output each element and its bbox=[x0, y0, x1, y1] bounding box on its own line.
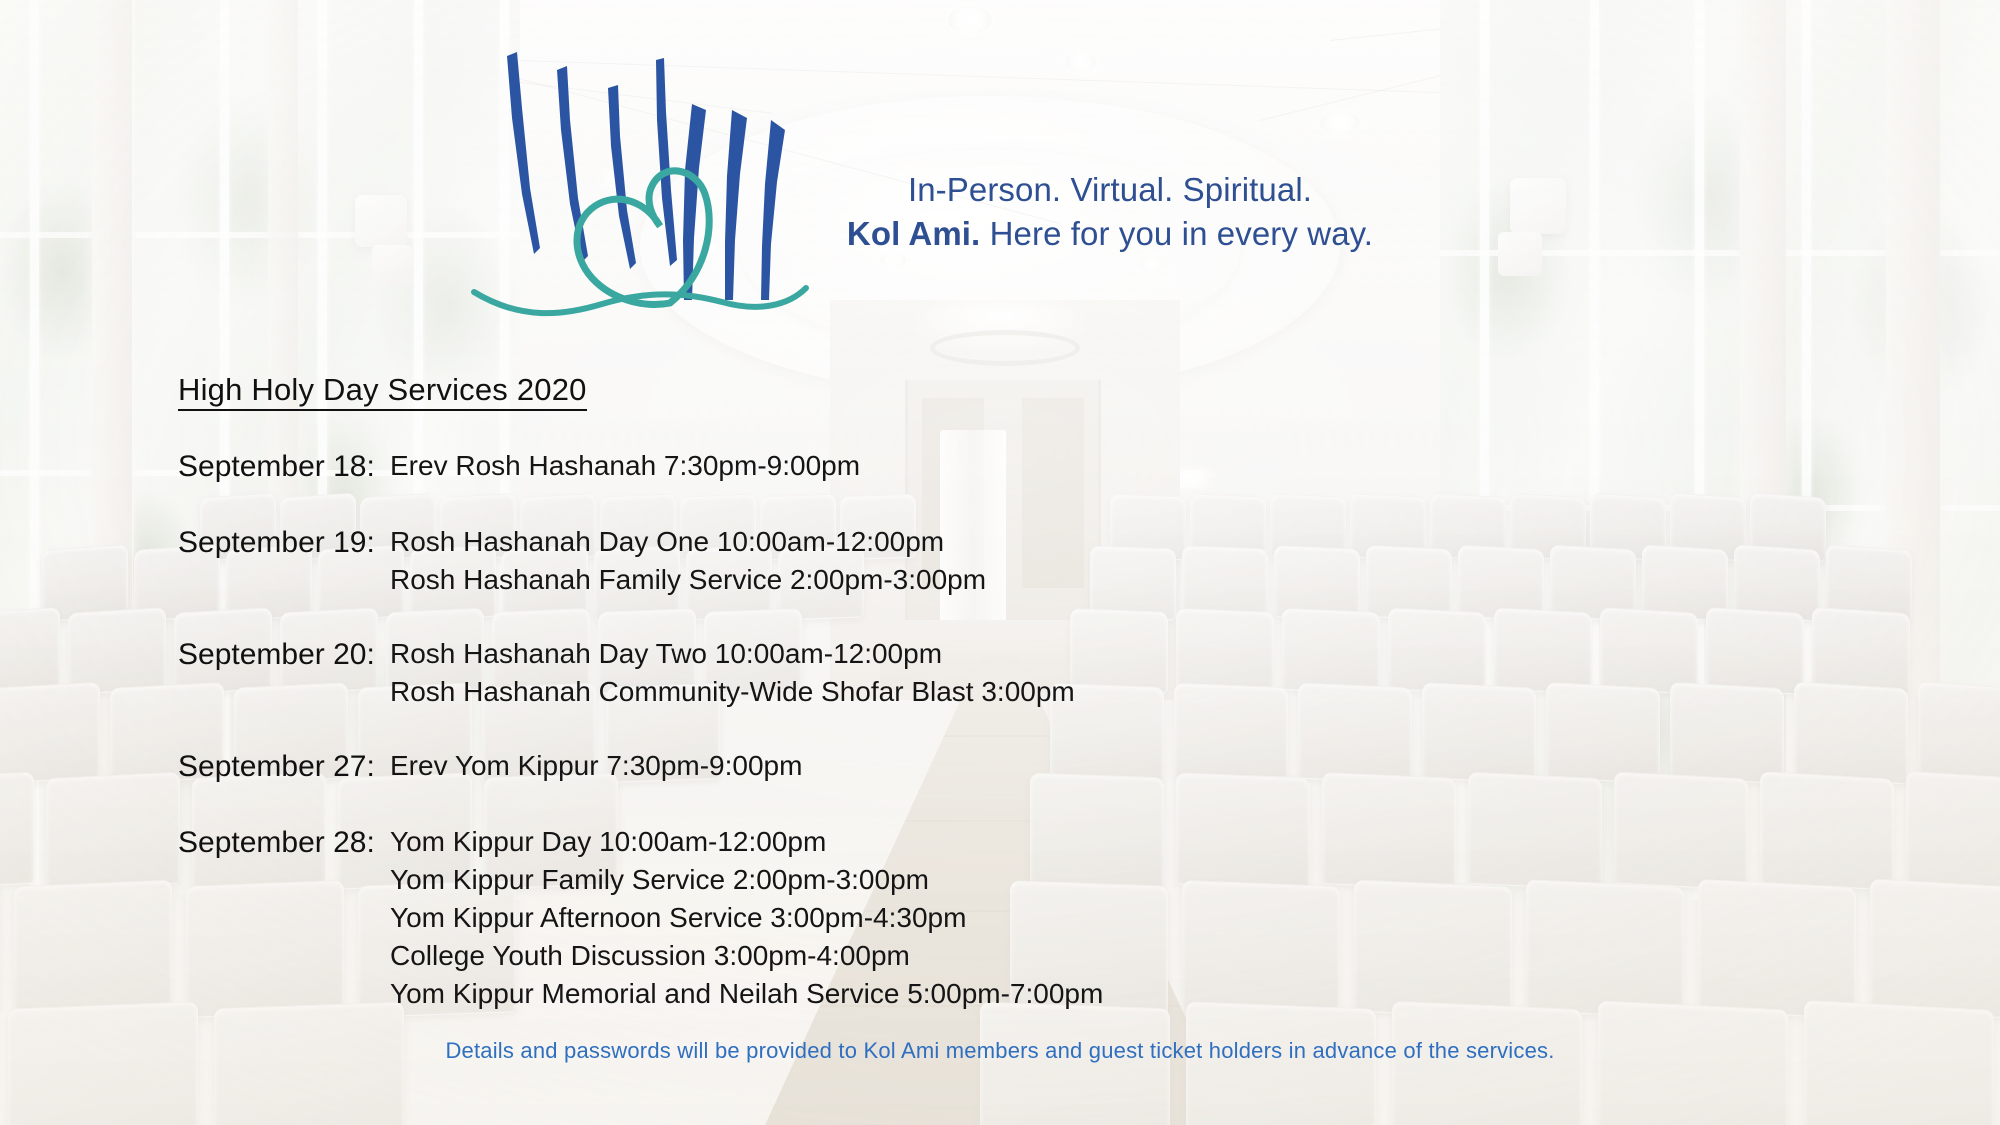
schedule-day-date: September 20: bbox=[178, 635, 390, 675]
schedule-day-date: September 27: bbox=[178, 747, 390, 787]
schedule-day-date: September 19: bbox=[178, 523, 390, 563]
schedule-day-date: September 18: bbox=[178, 447, 390, 487]
kol-ami-logo bbox=[470, 48, 810, 328]
schedule-event: Rosh Hashanah Day One 10:00am-12:00pm bbox=[390, 523, 986, 561]
menorah-hand-blades-icon bbox=[507, 52, 785, 300]
schedule-event: Yom Kippur Memorial and Neilah Service 5… bbox=[390, 975, 1103, 1013]
schedule-day-events: Erev Yom Kippur 7:30pm-9:00pm bbox=[390, 747, 802, 785]
schedule-day: September 19:Rosh Hashanah Day One 10:00… bbox=[178, 523, 1103, 599]
tagline-line-1: In-Person. Virtual. Spiritual. bbox=[800, 168, 1420, 212]
schedule-block: High Holy Day Services 2020 September 18… bbox=[178, 372, 1103, 1013]
schedule-day: September 18:Erev Rosh Hashanah 7:30pm-9… bbox=[178, 447, 1103, 487]
schedule-event: Yom Kippur Day 10:00am-12:00pm bbox=[390, 823, 1103, 861]
flyer-canvas: In-Person. Virtual. Spiritual. Kol Ami. … bbox=[0, 0, 2000, 1125]
flyer-content: In-Person. Virtual. Spiritual. Kol Ami. … bbox=[0, 0, 2000, 1125]
schedule-day-events: Rosh Hashanah Day Two 10:00am-12:00pmRos… bbox=[390, 635, 1075, 711]
schedule-event: Rosh Hashanah Family Service 2:00pm-3:00… bbox=[390, 561, 986, 599]
schedule-event: Yom Kippur Afternoon Service 3:00pm-4:30… bbox=[390, 899, 1103, 937]
tagline-line-2: Kol Ami. Here for you in every way. bbox=[800, 212, 1420, 256]
schedule-days: September 18:Erev Rosh Hashanah 7:30pm-9… bbox=[178, 447, 1103, 1013]
tagline-brand: Kol Ami. bbox=[847, 215, 980, 252]
schedule-event: Rosh Hashanah Community-Wide Shofar Blas… bbox=[390, 673, 1075, 711]
schedule-event: Erev Rosh Hashanah 7:30pm-9:00pm bbox=[390, 447, 860, 485]
schedule-day: September 27:Erev Yom Kippur 7:30pm-9:00… bbox=[178, 747, 1103, 787]
schedule-day: September 28:Yom Kippur Day 10:00am-12:0… bbox=[178, 823, 1103, 1013]
schedule-day-events: Erev Rosh Hashanah 7:30pm-9:00pm bbox=[390, 447, 860, 485]
schedule-event: Rosh Hashanah Day Two 10:00am-12:00pm bbox=[390, 635, 1075, 673]
tagline: In-Person. Virtual. Spiritual. Kol Ami. … bbox=[800, 168, 1420, 256]
schedule-day-date: September 28: bbox=[178, 823, 390, 863]
schedule-day-events: Rosh Hashanah Day One 10:00am-12:00pmRos… bbox=[390, 523, 986, 599]
tagline-line-2-rest: Here for you in every way. bbox=[980, 215, 1373, 252]
schedule-event: Yom Kippur Family Service 2:00pm-3:00pm bbox=[390, 861, 1103, 899]
schedule-day: September 20:Rosh Hashanah Day Two 10:00… bbox=[178, 635, 1103, 711]
schedule-event: Erev Yom Kippur 7:30pm-9:00pm bbox=[390, 747, 802, 785]
schedule-event: College Youth Discussion 3:00pm-4:00pm bbox=[390, 937, 1103, 975]
schedule-title: High Holy Day Services 2020 bbox=[178, 372, 587, 411]
schedule-day-events: Yom Kippur Day 10:00am-12:00pmYom Kippur… bbox=[390, 823, 1103, 1013]
footnote: Details and passwords will be provided t… bbox=[0, 1038, 2000, 1064]
